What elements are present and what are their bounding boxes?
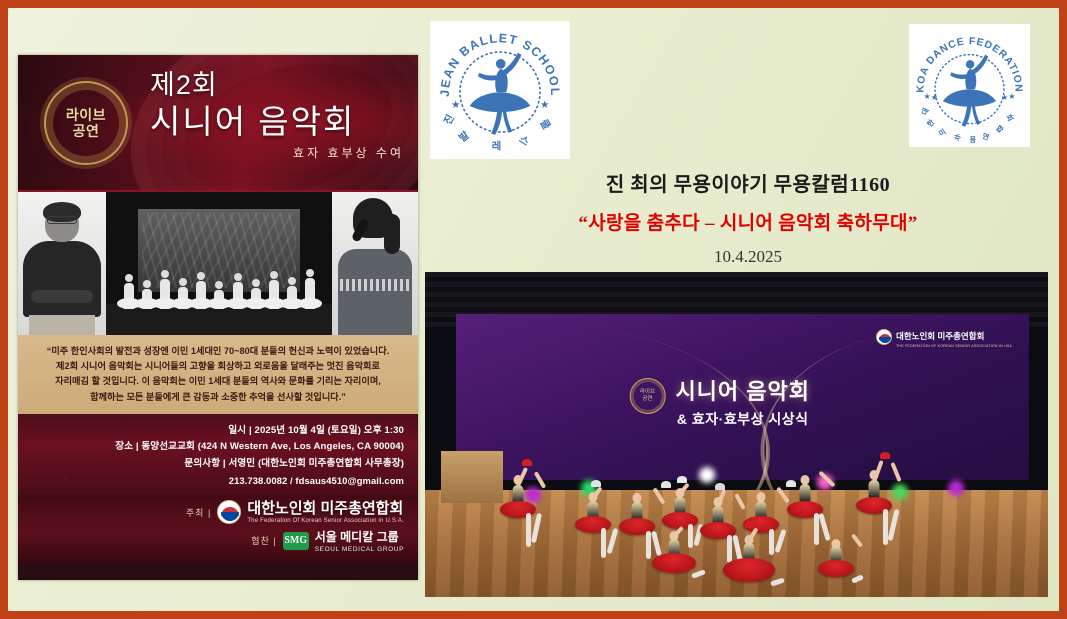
- svg-text:★: ★: [451, 100, 460, 111]
- svg-text:발: 발: [456, 128, 472, 144]
- quote-line: 자리매김 할 것입니다. 이 음악회는 이민 1세대 분들의 역사와 문화를 기…: [30, 374, 406, 389]
- stage-performance-photo: 대한노인회 미주총연합회 THE FEDERATION OF KOREAN SE…: [425, 272, 1048, 597]
- svg-text:스: 스: [517, 133, 532, 148]
- column-subtitle: “사랑을 춤추다 – 시니어 음악회 축하무대”: [438, 208, 1058, 235]
- column-date: 10.4.2025: [438, 247, 1058, 267]
- event-venue: 장소 | 동양선교교회 (424 N Western Ave, Los Ange…: [32, 439, 404, 456]
- host-org-english: The Federation Of Korean Senior Associat…: [247, 518, 404, 524]
- svg-text:용: 용: [970, 135, 977, 144]
- slide-canvas: 라이브 공연 제2회 시니어 음악회 효자 효부상 수여: [8, 8, 1059, 611]
- svg-text:★: ★: [1008, 92, 1015, 101]
- live-performance-badge: 라이브 공연: [44, 81, 128, 165]
- backdrop-live-badge: 라이브 공연: [629, 378, 665, 414]
- sponsor-org-english: SEOUL MEDICAL GROUP: [315, 546, 404, 553]
- event-inquiry: 문의사항 | 서영민 (대한노인회 미주총연합회 사무총장): [32, 456, 404, 473]
- svg-text:★: ★: [931, 93, 938, 102]
- quote-line: “미주 한인사회의 발전과 성장엔 이민 1세대인 70~80대 분들의 헌신과…: [30, 344, 406, 359]
- ballerina-emblem-icon: KOA DANCE FEDERATION ★ ★ ★ ★ 대 한: [909, 24, 1030, 147]
- poster-event-details: 일시 | 2025년 10월 4일 (토요일) 오후 1:30 장소 | 동양선…: [18, 414, 418, 496]
- poster-title-block: 제2회 시니어 음악회 효자 효부상 수여: [150, 71, 408, 161]
- svg-text:주: 주: [953, 133, 962, 143]
- poster-header: 라이브 공연 제2회 시니어 음악회 효자 효부상 수여: [18, 55, 418, 190]
- column-heading-block: 진 최의 무용이야기 무용칼럼1160 “사랑을 춤추다 – 시니어 음악회 축…: [438, 168, 1058, 267]
- photo-female-singer: [332, 192, 418, 335]
- svg-text:★: ★: [924, 92, 931, 101]
- backdrop-logo-korean: 대한노인회 미주총연합회: [896, 331, 984, 341]
- svg-text:레: 레: [492, 139, 502, 152]
- host-org: 대한노인회 미주총연합회 The Federation Of Korean Se…: [247, 500, 404, 524]
- backdrop-logo-english: THE FEDERATION OF KOREAN SENIOR ASSOCIAT…: [896, 344, 1012, 348]
- stage-backdrop: 대한노인회 미주총연합회 THE FEDERATION OF KOREAN SE…: [456, 314, 1029, 480]
- photo-male-performer: [18, 192, 106, 335]
- host-row: 주최 | 대한노인회 미주총연합회 The Federation Of Kore…: [32, 500, 404, 524]
- photo-ballet-group: [106, 192, 332, 335]
- svg-text:진: 진: [441, 112, 457, 127]
- badge-line-1: 라이브: [66, 107, 106, 123]
- svg-text:★: ★: [540, 100, 549, 111]
- page-frame: 라이브 공연 제2회 시니어 음악회 효자 효부상 수여: [0, 0, 1067, 619]
- ballerina-emblem-icon: JEAN BALLET SCHOOL ★ ★ 진 발 레 스: [430, 21, 570, 159]
- korean-flag-icon: [876, 329, 892, 345]
- quote-line: 함께하는 모든 분들에게 큰 감동과 소중한 추억을 선사할 것입니다.”: [30, 390, 406, 405]
- korean-flag-icon: [217, 500, 241, 524]
- poster-photo-montage: [18, 190, 418, 335]
- svg-text:한: 한: [925, 118, 936, 129]
- event-poster: 라이브 공연 제2회 시니어 음악회 효자 효부상 수여: [18, 55, 418, 580]
- poster-subtitle: 효자 효부상 수여: [150, 144, 408, 161]
- svg-text:★: ★: [1001, 93, 1008, 102]
- poster-title-line-2: 시니어 음악회: [150, 101, 408, 142]
- jean-ballet-school-logo: JEAN BALLET SCHOOL ★ ★ 진 발 레 스: [430, 21, 570, 159]
- sponsor-org-korean: 서울 메디칼 그룹: [315, 530, 399, 544]
- event-contact: 213.738.0082 / fdsaus4510@gmail.com: [32, 473, 404, 489]
- svg-text:연: 연: [981, 131, 991, 142]
- svg-text:대: 대: [920, 106, 931, 116]
- quote-line: 제2회 시니어 음악회는 시니어들의 고향을 회상하고 외로움을 달래주는 멋진…: [30, 359, 406, 374]
- sponsor-row: 협찬 | SMG 서울 메디칼 그룹 SEOUL MEDICAL GROUP: [32, 528, 404, 553]
- stage-light: [892, 484, 908, 500]
- backdrop-title: 시니어 음악회: [675, 374, 810, 406]
- sponsor-org: 서울 메디칼 그룹 SEOUL MEDICAL GROUP: [315, 528, 404, 553]
- poster-sponsors: 주최 | 대한노인회 미주총연합회 The Federation Of Kore…: [18, 495, 418, 562]
- poster-title-line-1: 제2회: [150, 71, 408, 101]
- svg-text:합: 합: [994, 123, 1005, 134]
- host-org-korean: 대한노인회 미주총연합회: [247, 500, 403, 517]
- backdrop-badge-line-2: 공연: [642, 396, 652, 403]
- svg-text:쿨: 쿨: [537, 117, 552, 132]
- podium: [441, 451, 503, 503]
- backdrop-title-block: 라이브 공연 시니어 음악회 & 효자·효부상 시상식: [675, 374, 810, 429]
- backdrop-badge-line-1: 라이브: [640, 389, 655, 396]
- backdrop-organization-logo: 대한노인회 미주총연합회 THE FEDERATION OF KOREAN SE…: [876, 326, 1012, 348]
- column-title: 진 최의 무용이야기 무용칼럼1160: [438, 168, 1058, 197]
- koa-dance-federation-logo: KOA DANCE FEDERATION ★ ★ ★ ★ 대 한: [909, 24, 1030, 147]
- stage-light: [525, 487, 541, 503]
- svg-text:미: 미: [937, 127, 948, 138]
- badge-line-2: 공연: [73, 123, 100, 139]
- svg-text:회: 회: [1004, 113, 1015, 123]
- backdrop-subtitle: & 효자·효부상 시상식: [675, 409, 810, 429]
- event-datetime: 일시 | 2025년 10월 4일 (토요일) 오후 1:30: [32, 423, 404, 440]
- smg-logo-icon: SMG: [283, 532, 309, 550]
- sponsor-label: 협찬 |: [251, 534, 276, 547]
- poster-quote: “미주 한인사회의 발전과 성장엔 이민 1세대인 70~80대 분들의 헌신과…: [18, 335, 418, 414]
- host-label: 주최 |: [186, 506, 211, 519]
